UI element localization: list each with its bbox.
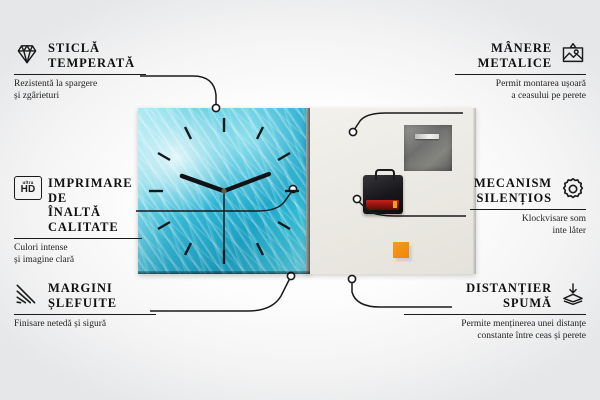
infographic-canvas: STICLĂ TEMPERATĂ Rezistentă la spargere …	[0, 0, 600, 400]
feature-divider	[404, 314, 586, 315]
feature-silent-mechanism: MECANISM SILENȚIOS Klockvisare som inte …	[470, 175, 586, 237]
feature-subtitle: Permit montarea ușoară a ceasului pe per…	[455, 79, 586, 102]
hanger-slot	[415, 134, 439, 139]
foam-spacer-pad	[393, 242, 409, 258]
diamond-icon	[14, 41, 40, 67]
feature-metal-hangers: MÂNERE METALICE Permit montarea ușoară a…	[455, 40, 586, 102]
feature-divider	[14, 314, 156, 315]
diagonal-lines-icon	[14, 281, 40, 307]
framed-picture-hanging-icon	[560, 41, 586, 67]
clock-front-panel	[138, 108, 310, 274]
clock-back-panel	[306, 108, 476, 274]
feature-title: MÂNERE METALICE	[478, 40, 552, 70]
glass-bottom-edge	[138, 271, 310, 274]
feature-subtitle: Culori intense și imagine clară	[14, 243, 142, 266]
metal-hanger-plate	[404, 125, 452, 171]
connector-polished-edges	[150, 278, 290, 311]
feature-title: MECANISM SILENȚIOS	[474, 175, 552, 205]
feature-title: STICLĂ TEMPERATĂ	[48, 40, 135, 70]
feature-divider	[455, 74, 586, 75]
ultra-hd-icon: ultra HD	[14, 176, 40, 202]
feature-foam-spacer: DISTANȚIER SPUMĂ Permite menținerea unei…	[404, 280, 586, 342]
feature-subtitle: Klockvisare som inte låter	[470, 214, 586, 237]
feature-tempered-glass: STICLĂ TEMPERATĂ Rezistentă la spargere …	[14, 40, 146, 102]
clock-face	[138, 108, 310, 274]
ultra-hd-main-text: HD	[21, 185, 36, 195]
product-image	[138, 108, 476, 274]
feature-polished-edges: MARGINI ȘLEFUITE Finisare netedă și sigu…	[14, 280, 156, 331]
glass-right-edge	[306, 108, 310, 274]
feature-title: DISTANȚIER SPUMĂ	[466, 280, 552, 310]
feature-subtitle: Rezistentă la spargere și zgârieturi	[14, 79, 146, 102]
mechanism-hanger-loop	[375, 169, 395, 180]
feature-title: MARGINI ȘLEFUITE	[48, 280, 117, 310]
battery	[366, 200, 399, 210]
feature-subtitle: Permite menținerea unei distanțe constan…	[404, 319, 586, 342]
feature-divider	[14, 238, 142, 239]
clock-hands	[182, 174, 269, 250]
quartz-mechanism	[363, 175, 403, 214]
feature-title: IMPRIMARE DE ÎNALTĂ CALITATE	[48, 175, 142, 234]
feature-divider	[14, 74, 146, 75]
feature-divider	[470, 209, 586, 210]
connector-tempered-glass	[140, 76, 216, 106]
gear-icon	[560, 176, 586, 202]
feature-subtitle: Finisare netedă și sigură	[14, 319, 156, 331]
arrow-down-onto-layers-icon	[560, 281, 586, 307]
feature-hd-print: ultra HD IMPRIMARE DE ÎNALTĂ CALITATE Cu…	[14, 175, 142, 266]
